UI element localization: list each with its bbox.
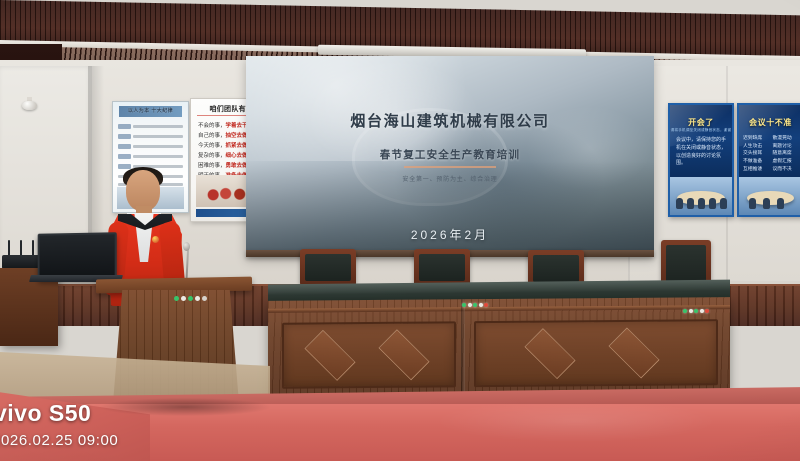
- rule-item: 迟到缺席: [743, 135, 769, 143]
- panel-diamond: [379, 329, 430, 380]
- led-green: [473, 303, 477, 307]
- projection-screen: 烟台海山建筑机械有限公司 春节复工安全生产教育培训 安全第一、预防为主、综合治理…: [246, 56, 654, 257]
- led-red: [484, 303, 488, 307]
- poster-row: [118, 144, 183, 149]
- illustration-seat: [720, 198, 727, 209]
- line-head: 自己的事，: [198, 133, 226, 139]
- dais-panel-right: [474, 319, 718, 387]
- podium-shadow: [100, 398, 270, 416]
- watermark-timestamp: 2026.02.25 09:00: [0, 432, 118, 449]
- poster-row-tag: [118, 154, 131, 159]
- poster-row-line: [133, 125, 183, 128]
- chair-pad: [533, 255, 579, 282]
- podium-led-cluster: [174, 296, 207, 301]
- led-white: [202, 296, 207, 301]
- led-green: [694, 309, 698, 313]
- poster-row: [118, 124, 183, 129]
- rule-item: 离题讨论: [773, 143, 799, 151]
- poster-row-tag: [118, 124, 131, 129]
- rule-item: 虚假汇报: [773, 158, 799, 166]
- camera-dome: [22, 101, 37, 110]
- dais-chair-1: [300, 249, 356, 285]
- line-accent: 细心去做: [226, 153, 248, 159]
- line-accent: 学着去干: [226, 123, 248, 129]
- dais-led-cluster-1: [462, 303, 488, 307]
- panel-diamond: [525, 328, 576, 379]
- security-camera-icon: [22, 97, 38, 110]
- poster-row: [118, 134, 183, 139]
- speaker-badge: [152, 236, 159, 243]
- led-green: [683, 309, 687, 313]
- rule-item: 散漫晃动: [773, 135, 799, 143]
- poster-meeting-body: 会议中，请保持您的手机在关闭或静音状态，以创造良好的讨论氛围。: [676, 137, 726, 168]
- dais-seam: [461, 299, 465, 395]
- dais-front-panel: [268, 297, 730, 397]
- line-head: 复杂的事，: [198, 153, 226, 159]
- led-green: [462, 303, 466, 307]
- panel-diamond: [609, 327, 660, 378]
- microphone-head: [183, 242, 190, 251]
- chair-pad: [666, 245, 706, 284]
- rule-item: 随意离席: [773, 150, 799, 158]
- poster-rules-illustration: [739, 177, 800, 215]
- slide-subtitle: 春节复工安全生产教育培训: [246, 147, 654, 162]
- line-accent: 勇敢去做: [226, 163, 248, 169]
- rule-item: 不做准备: [743, 158, 769, 166]
- dais-panel-left: [282, 321, 456, 388]
- router-antenna: [20, 240, 22, 256]
- rule-item: 互相推诿: [743, 166, 769, 174]
- line-head: 不会的事，: [198, 123, 226, 129]
- poster-row-tag: [118, 164, 131, 169]
- poster-rules-col-right: 散漫晃动 离题讨论 随意离席 虚假汇报 议而不决: [773, 135, 799, 173]
- poster-discipline-title: 以人为本 十大纪律: [113, 107, 188, 114]
- illustration-seat: [763, 198, 770, 209]
- router-antenna: [32, 240, 34, 256]
- wall-poster-meeting-notice: 开会了 请将手机调至关闭或静音状态，谢谢 会议中，请保持您的手机在关闭或静音状态…: [668, 103, 734, 217]
- line-accent: 抓紧去做: [226, 143, 248, 149]
- dais-led-cluster-2: [683, 309, 709, 313]
- illustration-seat: [709, 198, 716, 209]
- dais-chair-2: [414, 249, 470, 285]
- speaker-head: [126, 170, 160, 211]
- slide-title: 烟台海山建筑机械有限公司: [246, 110, 654, 131]
- conference-room-photo: 以人为本 十大纪律 咱们团队有力量: [0, 0, 800, 461]
- poster-row-tag: [118, 144, 131, 149]
- rule-item: 交头接耳: [743, 150, 769, 158]
- illustration-seat: [749, 198, 756, 209]
- line-head: 今天的事，: [198, 143, 226, 149]
- illustration-seat: [777, 198, 784, 209]
- poster-meeting-illustration: [670, 177, 732, 215]
- illustration-seat: [687, 198, 694, 209]
- slide-date: 2026年2月: [246, 226, 654, 243]
- led-green: [188, 296, 193, 301]
- wall-poster-meeting-rules: 会议十不准 迟到缺席 人生攻击 交头接耳 不做准备 互相推诿 散漫晃动 离题讨论…: [737, 103, 800, 217]
- poster-rules-title: 会议十不准: [739, 117, 800, 128]
- poster-row: [118, 154, 183, 159]
- poster-row-line: [133, 155, 183, 158]
- slide-motto: 安全第一、预防为主、综合治理: [246, 174, 654, 183]
- led-white: [195, 296, 200, 301]
- poster-row-line: [133, 145, 183, 148]
- router-antenna: [8, 240, 10, 256]
- rule-item: 人生攻击: [743, 143, 769, 151]
- chair-pad: [305, 254, 351, 281]
- watermark-brand: vivo S50: [0, 400, 91, 427]
- led-red: [705, 309, 709, 313]
- led-green: [174, 296, 179, 301]
- poster-rules-columns: 迟到缺席 人生攻击 交头接耳 不做准备 互相推诿 散漫晃动 离题讨论 随意离席 …: [743, 135, 798, 173]
- line-accent: 抽空去做: [226, 133, 248, 139]
- led-white: [468, 303, 472, 307]
- poster-row-tag: [118, 134, 131, 139]
- led-white: [700, 309, 704, 313]
- chair-pad: [419, 254, 465, 281]
- panel-diamond: [305, 330, 356, 381]
- rule-item: 议而不决: [773, 166, 799, 174]
- poster-row-line: [133, 135, 183, 138]
- led-white: [479, 303, 483, 307]
- illustration-seat: [676, 198, 683, 209]
- poster-team-title-prefix: 咱们团队有: [209, 106, 246, 113]
- line-head: 困难的事，: [198, 163, 226, 169]
- poster-meeting-title: 开会了: [670, 117, 732, 128]
- poster-meeting-subtitle: 请将手机调至关闭或静音状态，谢谢: [670, 128, 732, 133]
- led-white: [181, 296, 186, 301]
- poster-rules-col-left: 迟到缺席 人生攻击 交头接耳 不做准备 互相推诿: [743, 135, 769, 173]
- illustration-seat: [698, 198, 705, 209]
- slide-divider: [404, 166, 496, 168]
- led-white: [689, 309, 693, 313]
